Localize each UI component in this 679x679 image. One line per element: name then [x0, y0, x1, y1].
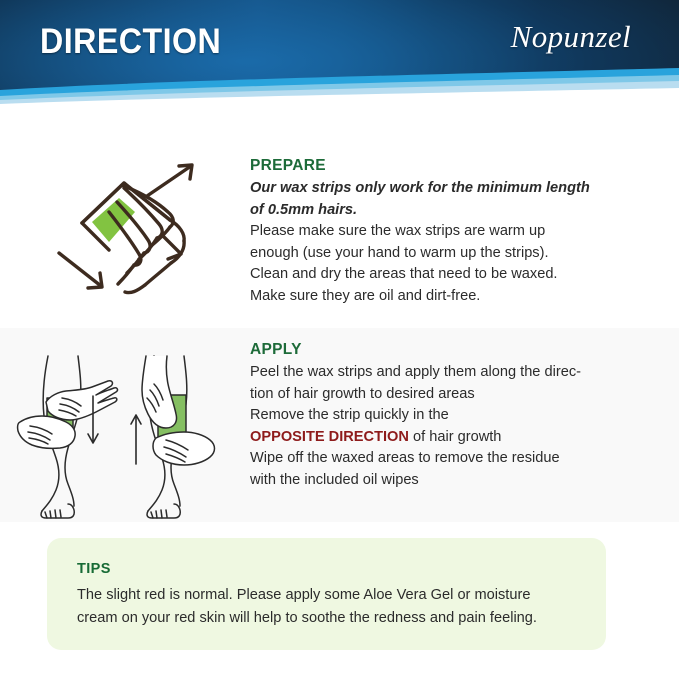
- apply-text-block: APPLY Peel the wax strips and apply them…: [250, 340, 679, 491]
- prepare-lead-line-2-post: hairs.: [314, 202, 357, 218]
- apply-illustration: [0, 340, 250, 526]
- prepare-min-length-value: 0.5mm: [268, 202, 314, 218]
- apply-line-1: Peel the wax strips and apply them along…: [250, 362, 635, 384]
- step-body-prepare: Our wax strips only work for the minimum…: [250, 178, 635, 307]
- prepare-lead-line-2-pre: of: [250, 202, 268, 218]
- prepare-illustration: [0, 156, 250, 303]
- tips-title: TIPS: [77, 560, 576, 578]
- step-title-apply: APPLY: [250, 340, 635, 360]
- apply-line-4: Wipe off the waxed areas to remove the r…: [250, 448, 635, 470]
- page-title: DIRECTION: [40, 20, 221, 64]
- direction-instruction-sheet: DIRECTION Nopunzel: [0, 0, 679, 679]
- header-wave-decoration: [0, 66, 679, 112]
- prepare-line-2: enough (use your hand to warm up the str…: [250, 243, 635, 265]
- prepare-line-4: Make sure they are oil and dirt-free.: [250, 286, 635, 308]
- apply-line-3: Remove the strip quickly in the: [250, 405, 635, 427]
- tips-line-2: cream on your red skin will help to soot…: [77, 607, 576, 630]
- page-header: DIRECTION Nopunzel: [0, 0, 679, 112]
- prepare-text-block: PREPARE Our wax strips only work for the…: [250, 156, 679, 307]
- section-prepare: PREPARE Our wax strips only work for the…: [0, 112, 679, 328]
- apply-line-5: with the included oil wipes: [250, 470, 635, 492]
- brand-logo: Nopunzel: [511, 19, 631, 55]
- two-legs-waxing-icon: [16, 354, 234, 526]
- step-title-prepare: PREPARE: [250, 156, 635, 176]
- apply-line-2: tion of hair growth to desired areas: [250, 384, 635, 406]
- prepare-line-3: Clean and dry the areas that need to be …: [250, 264, 635, 286]
- step-body-apply: Peel the wax strips and apply them along…: [250, 362, 635, 491]
- apply-emphasis-rest: of hair growth: [409, 429, 501, 445]
- prepare-lead-line-1: Our wax strips only work for the minimum…: [250, 180, 590, 196]
- section-apply: APPLY Peel the wax strips and apply them…: [0, 328, 679, 522]
- tips-body: The slight red is normal. Please apply s…: [77, 584, 576, 630]
- apply-emphasis-line: OPPOSITE DIRECTION of hair growth: [250, 427, 635, 449]
- prepare-line-1: Please make sure the wax strips are warm…: [250, 221, 635, 243]
- opposite-direction-highlight: OPPOSITE DIRECTION: [250, 429, 409, 445]
- tips-line-1: The slight red is normal. Please apply s…: [77, 584, 576, 607]
- tips-callout-box: TIPS The slight red is normal. Please ap…: [47, 538, 606, 650]
- hand-rubbing-wax-strip-icon: [35, 158, 215, 303]
